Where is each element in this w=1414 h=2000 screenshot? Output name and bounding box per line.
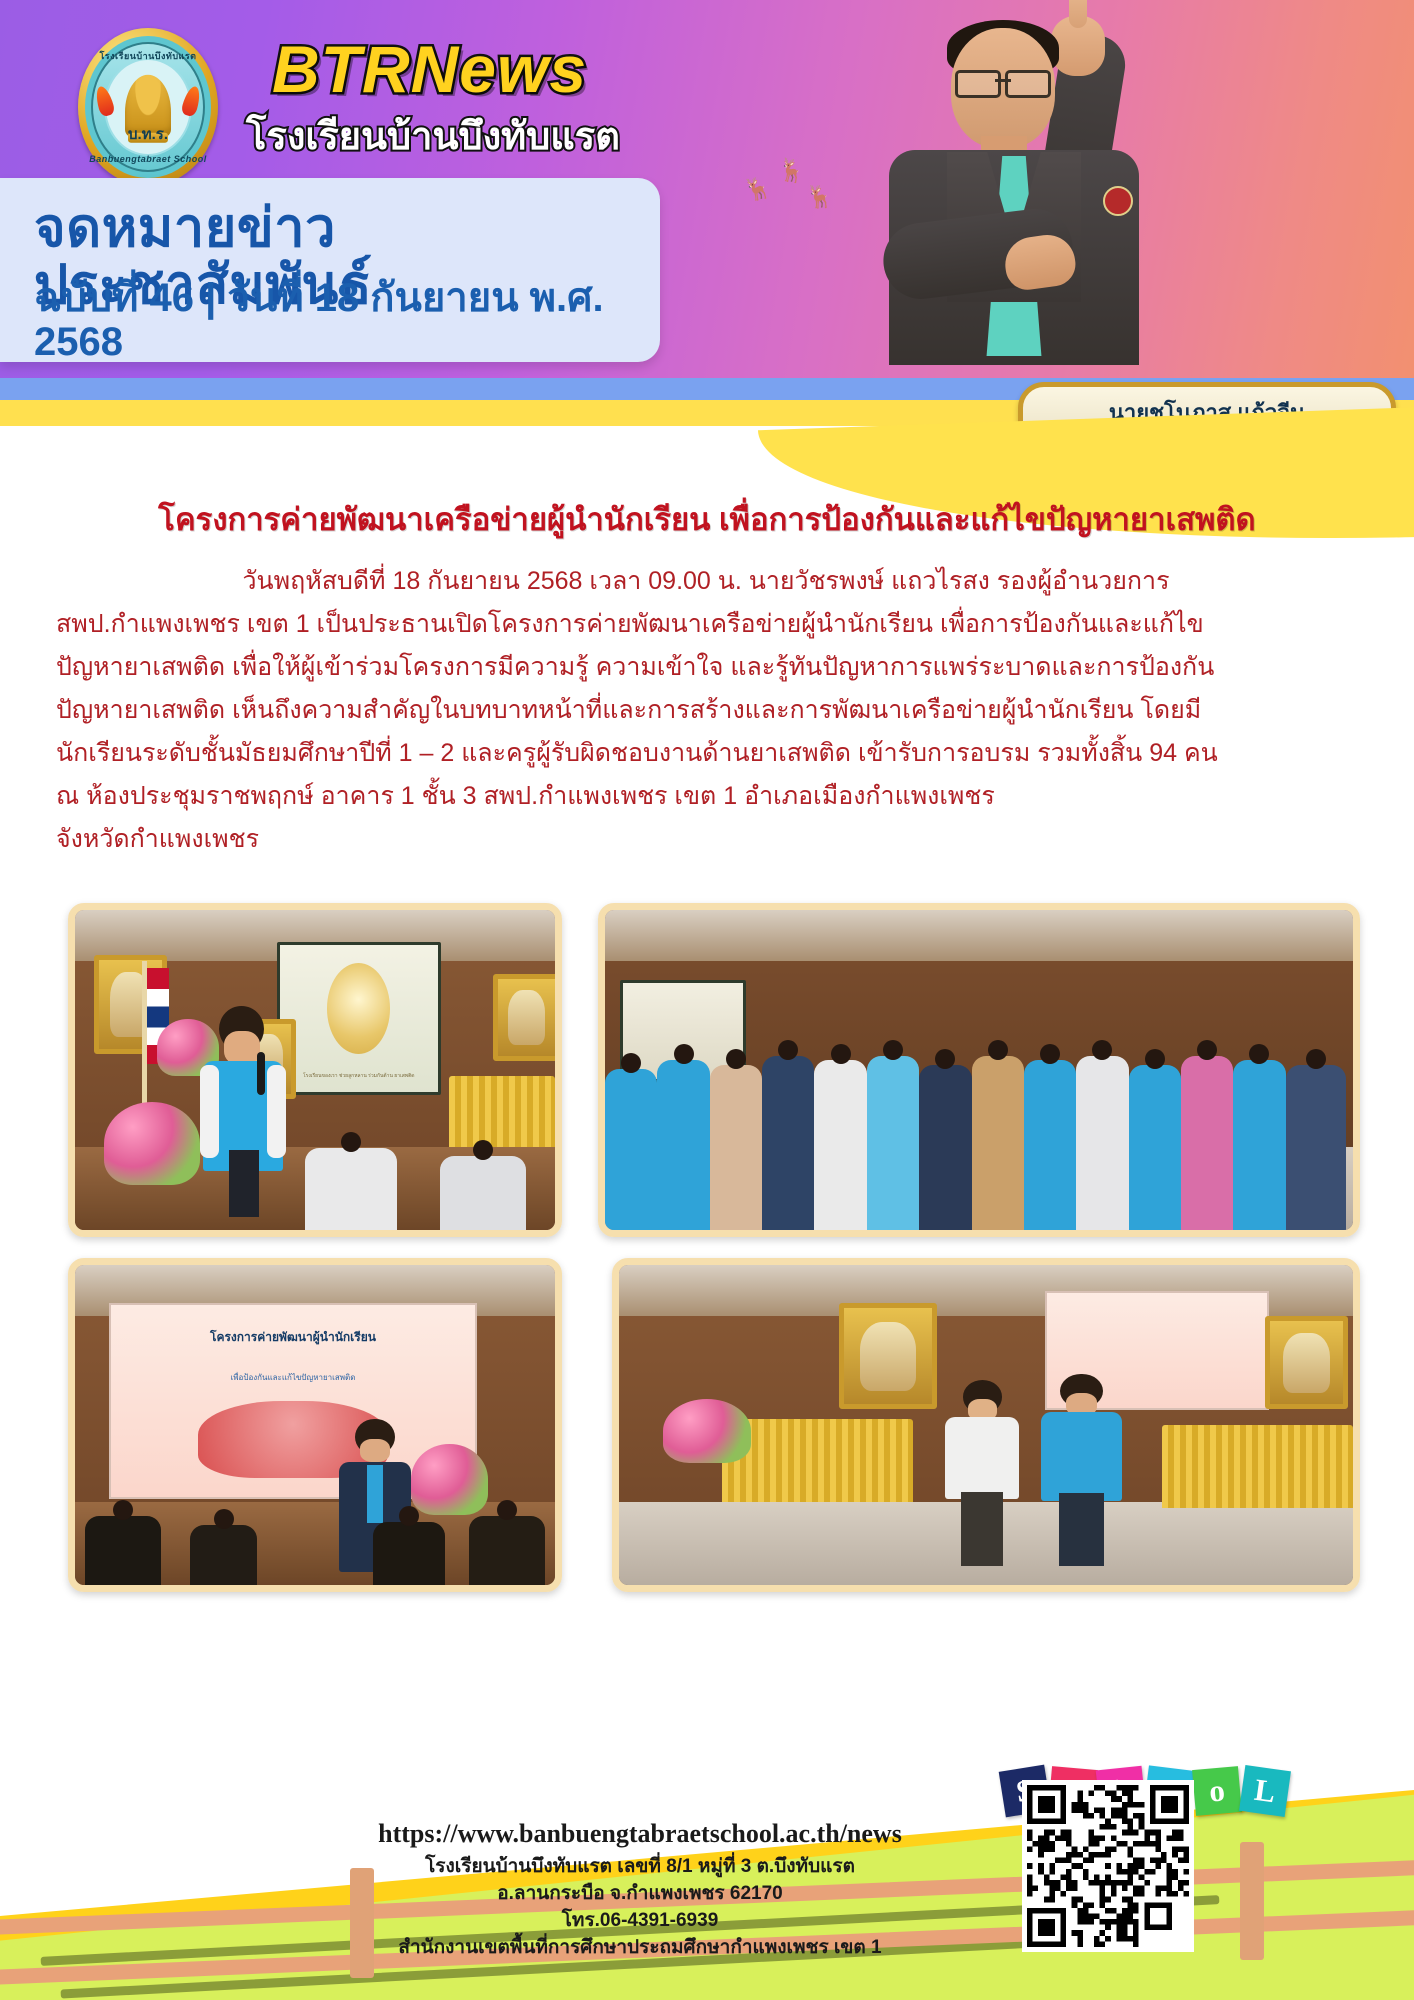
attendee [919,1065,971,1230]
body-line: จังหวัดกำแพงเพชร [56,818,1356,861]
logo-abbreviation: บ.ท.ร. [78,122,218,146]
photo-2 [598,903,1360,1237]
footer-phone-line: โทร.06-4391-6939 [300,1908,980,1935]
newsletter-page: โรงเรียนบ้านบึงทับแรต บ.ท.ร. Banbuengtab… [0,0,1414,2000]
audience-person [190,1525,257,1585]
attendee [1024,1060,1076,1230]
brand-title: BTRNews [272,36,587,102]
photo-2-scene [605,910,1353,1230]
photo-4-scene [619,1265,1353,1585]
attendee [1076,1056,1128,1230]
attendee [1233,1060,1285,1230]
body-line: ณ ห้องประชุมราชพฤกษ์ อาคาร 1 ชั้น 3 สพป.… [56,775,1356,818]
audience-person [305,1148,396,1230]
staff-person [1037,1374,1125,1566]
slide-title: โครงการค่ายพัฒนาผู้นำนักเรียน [111,1328,476,1347]
photo-3-scene: โครงการค่ายพัฒนาผู้นำนักเรียน เพื่อป้องก… [75,1265,555,1585]
body-line: ปัญหายาเสพติด เพื่อให้ผู้เข้าร่วมโครงการ… [56,646,1356,689]
projection-screen: โรงเรียนของเรา ช่วยลูกหลาน ร่วมกันต้าน ย… [277,942,441,1095]
footer-office-line: สำนักงานเขตพื้นที่การศึกษาประถมศึกษากำแพ… [300,1935,980,1962]
attendee [657,1060,709,1230]
photo-3: โครงการค่ายพัฒนาผู้นำนักเรียน เพื่อป้องก… [68,1258,562,1592]
audience-person [440,1156,526,1230]
audience-person [85,1516,162,1585]
student-person [942,1380,1023,1566]
attendee [710,1065,762,1230]
footer-address-line: โรงเรียนบ้านบึงทับแรต เลขที่ 8/1 หมู่ที่… [300,1854,980,1881]
audience-crowd [75,1489,555,1585]
attendee [1181,1056,1233,1230]
footer-contact-block: https://www.banbuengtabraetschool.ac.th/… [300,1819,980,1962]
birds-decoration-icon: 🦌🦌🦌 [740,160,860,220]
director-lapel-badge [1103,186,1133,216]
director-pointing-finger [1069,0,1087,28]
school-letter-tile: L [1239,1765,1291,1817]
logo-arc-top-text: โรงเรียนบ้านบึงทับแรต [78,49,218,63]
issue-and-date: ฉบับที่ 46 | วันที่ 18 กันยายน พ.ศ. 2568 [34,276,660,364]
body-line: ปัญหายาเสพติด เห็นถึงความสำคัญในบทบาทหน้… [56,689,1356,732]
royal-portrait-frame [493,974,561,1061]
brand-subtitle: โรงเรียนบ้านบึงทับแรต [246,118,620,156]
audience-person [469,1516,546,1585]
slide-royal-portrait [327,963,390,1054]
logo-arc-bottom-text: Banbuengtabraet School [78,154,218,164]
slide-subtitle: เพื่อป้องกันและแก้ไขปัญหายาเสพติด [111,1371,476,1384]
article-body: วันพฤหัสบดีที่ 18 กันยายน 2568 เวลา 09.0… [56,560,1356,861]
royal-portrait-frame [1265,1316,1348,1409]
fence-post [1240,1842,1264,1960]
body-line: นักเรียนระดับชั้นมัธยมศึกษาปีที่ 1 – 2 แ… [56,732,1356,775]
glasses-icon [955,70,1051,92]
photo-4 [612,1258,1360,1592]
school-letter-tile: o [1192,1766,1242,1816]
staff-trousers [1059,1493,1105,1566]
flower-arrangement [663,1399,751,1463]
attendee [762,1056,814,1230]
student-uniform [945,1417,1019,1499]
body-line: วันพฤหัสบดีที่ 18 กันยายน 2568 เวลา 09.0… [56,560,1356,603]
attendee [1129,1065,1181,1230]
audience-person [373,1522,445,1585]
group-photo-crowd [605,1012,1353,1230]
audience-crowd [75,1083,555,1230]
school-logo: โรงเรียนบ้านบึงทับแรต บ.ท.ร. Banbuengtab… [78,28,218,186]
body-line: สพป.กำแพงเพชร เขต 1 เป็นประธานเปิดโครงกา… [56,603,1356,646]
director-portrait-photo [855,10,1185,370]
staff-blue-shirt [1041,1412,1122,1500]
article-headline: โครงการค่ายพัฒนาเครือข่ายผู้นำนักเรียน เ… [0,494,1414,544]
attendee [972,1056,1024,1230]
attendee [867,1056,919,1230]
royal-portrait-frame [839,1303,937,1409]
photo-1-scene: โรงเรียนของเรา ช่วยลูกหลาน ร่วมกันต้าน ย… [75,910,555,1230]
slide-caption: โรงเรียนของเรา ช่วยลูกหลาน ร่วมกันต้าน ย… [292,1072,425,1080]
presenter-face [360,1439,389,1462]
student-trousers [961,1492,1003,1566]
website-url[interactable]: https://www.banbuengtabraetschool.ac.th/… [300,1819,980,1849]
room-ceiling [605,910,1353,961]
title-banner: จดหมายข่าวประชาสัมพันธ์ ฉบับที่ 46 | วัน… [0,178,660,362]
attendee [1286,1065,1346,1230]
qr-code[interactable] [1022,1780,1194,1952]
attendee [605,1069,657,1230]
attendee [814,1060,866,1230]
decorated-table [1162,1425,1353,1508]
footer-address-line: อ.ลานกระบือ จ.กำแพงเพชร 62170 [300,1881,980,1908]
photo-1: โรงเรียนของเรา ช่วยลูกหลาน ร่วมกันต้าน ย… [68,903,562,1237]
